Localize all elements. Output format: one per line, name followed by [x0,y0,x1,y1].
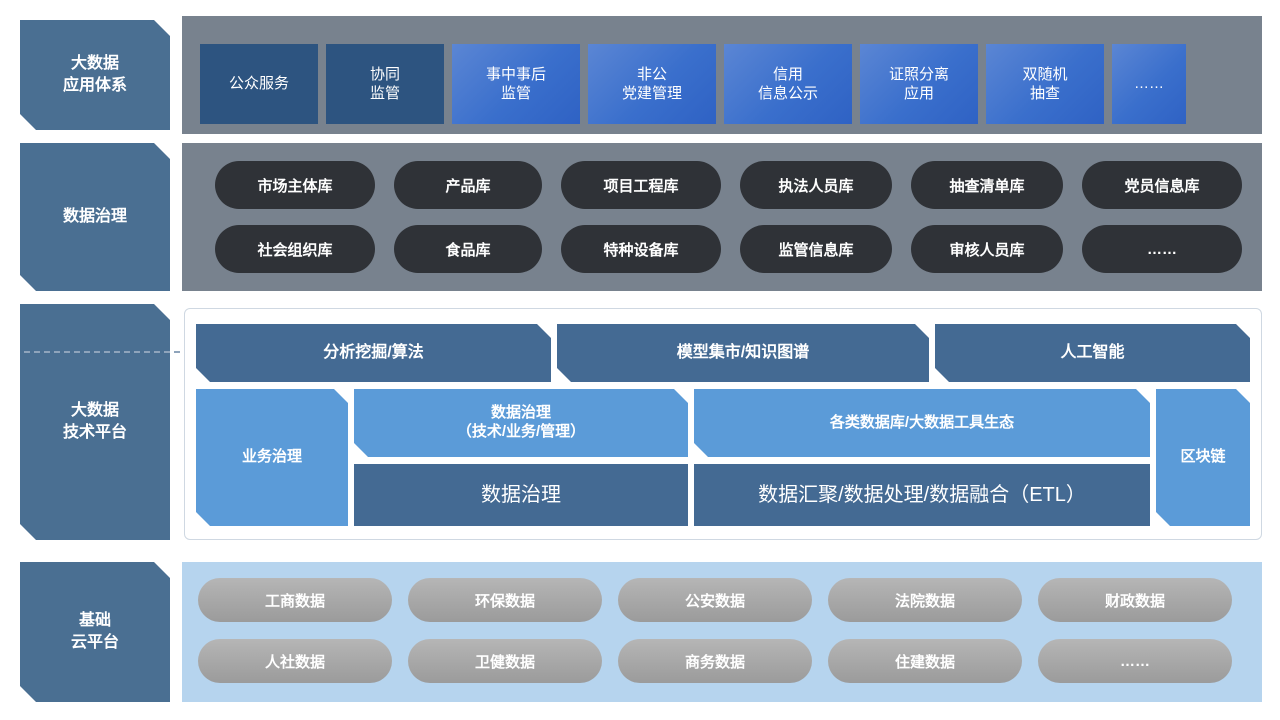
row-label-application-system: 大数据 应用体系 [20,20,170,130]
db-pill-food[interactable]: 食品库 [394,225,542,273]
app-tile-more[interactable]: …… [1112,44,1186,124]
db-pill-more[interactable]: …… [1082,225,1242,273]
row-label-cloud-platform: 基础 云平台 [20,562,170,702]
row-label-text: 数据治理 [63,206,127,228]
source-pill-human-resources[interactable]: 人社数据 [198,639,392,683]
app-tile-double-random-inspection[interactable]: 双随机 抽查 [986,44,1104,124]
tech-box-business-governance[interactable]: 业务治理 [196,389,348,526]
source-pill-housing-construction[interactable]: 住建数据 [828,639,1022,683]
app-tile-non-public-party-building[interactable]: 非公 党建管理 [588,44,716,124]
tech-platform-connector-line [24,351,190,353]
tech-box-model-market-knowledge-graph[interactable]: 模型集市/知识图谱 [557,324,929,382]
row-label-text: 大数据 应用体系 [63,53,127,96]
db-pill-special-equipment[interactable]: 特种设备库 [561,225,721,273]
app-tile-license-separation[interactable]: 证照分离 应用 [860,44,978,124]
tech-box-etl[interactable]: 数据汇聚/数据处理/数据融合（ETL） [694,464,1150,526]
tech-box-database-tool-ecosystem[interactable]: 各类数据库/大数据工具生态 [694,389,1150,457]
row-label-tech-platform: 大数据 技术平台 [20,304,170,540]
tech-box-artificial-intelligence[interactable]: 人工智能 [935,324,1250,382]
db-pill-market-entity[interactable]: 市场主体库 [215,161,375,209]
data-governance-band: 市场主体库 产品库 项目工程库 执法人员库 抽查清单库 党员信息库 社会组织库 … [182,143,1262,291]
source-pill-business-registration[interactable]: 工商数据 [198,578,392,622]
source-pill-court[interactable]: 法院数据 [828,578,1022,622]
db-pill-party-member-info[interactable]: 党员信息库 [1082,161,1242,209]
tech-box-data-governance-scope[interactable]: 数据治理 （技术/业务/管理） [354,389,688,457]
source-pill-commerce[interactable]: 商务数据 [618,639,812,683]
tech-platform-card: 分析挖掘/算法 模型集市/知识图谱 人工智能 业务治理 数据治理 （技术/业务/… [184,308,1262,540]
db-pill-supervision-info[interactable]: 监管信息库 [740,225,892,273]
row-label-data-governance: 数据治理 [20,143,170,291]
db-pill-law-enforcement-staff[interactable]: 执法人员库 [740,161,892,209]
source-pill-public-security[interactable]: 公安数据 [618,578,812,622]
db-pill-product[interactable]: 产品库 [394,161,542,209]
db-pill-project-engineering[interactable]: 项目工程库 [561,161,721,209]
source-pill-finance[interactable]: 财政数据 [1038,578,1232,622]
db-pill-review-staff[interactable]: 审核人员库 [911,225,1063,273]
source-pill-environment[interactable]: 环保数据 [408,578,602,622]
row-label-text: 大数据 技术平台 [63,400,127,443]
application-tiles-band: 公众服务 协同 监管 事中事后 监管 非公 党建管理 信用 信息公示 证照分离 … [182,16,1262,134]
source-pill-more[interactable]: …… [1038,639,1232,683]
app-tile-in-and-post-supervision[interactable]: 事中事后 监管 [452,44,580,124]
cloud-platform-band: 工商数据 环保数据 公安数据 法院数据 财政数据 人社数据 卫健数据 商务数据 … [182,562,1262,702]
source-pill-health[interactable]: 卫健数据 [408,639,602,683]
row-label-text: 基础 云平台 [71,610,119,653]
app-tile-credit-disclosure[interactable]: 信用 信息公示 [724,44,852,124]
tech-box-analysis-mining-algorithm[interactable]: 分析挖掘/算法 [196,324,551,382]
app-tile-collaborative-supervision[interactable]: 协同 监管 [326,44,444,124]
app-tile-public-service[interactable]: 公众服务 [200,44,318,124]
tech-box-data-governance[interactable]: 数据治理 [354,464,688,526]
tech-box-blockchain[interactable]: 区块链 [1156,389,1250,526]
architecture-diagram: 大数据 应用体系 公众服务 协同 监管 事中事后 监管 非公 党建管理 信用 信… [0,0,1280,720]
db-pill-inspection-list[interactable]: 抽查清单库 [911,161,1063,209]
db-pill-social-organization[interactable]: 社会组织库 [215,225,375,273]
